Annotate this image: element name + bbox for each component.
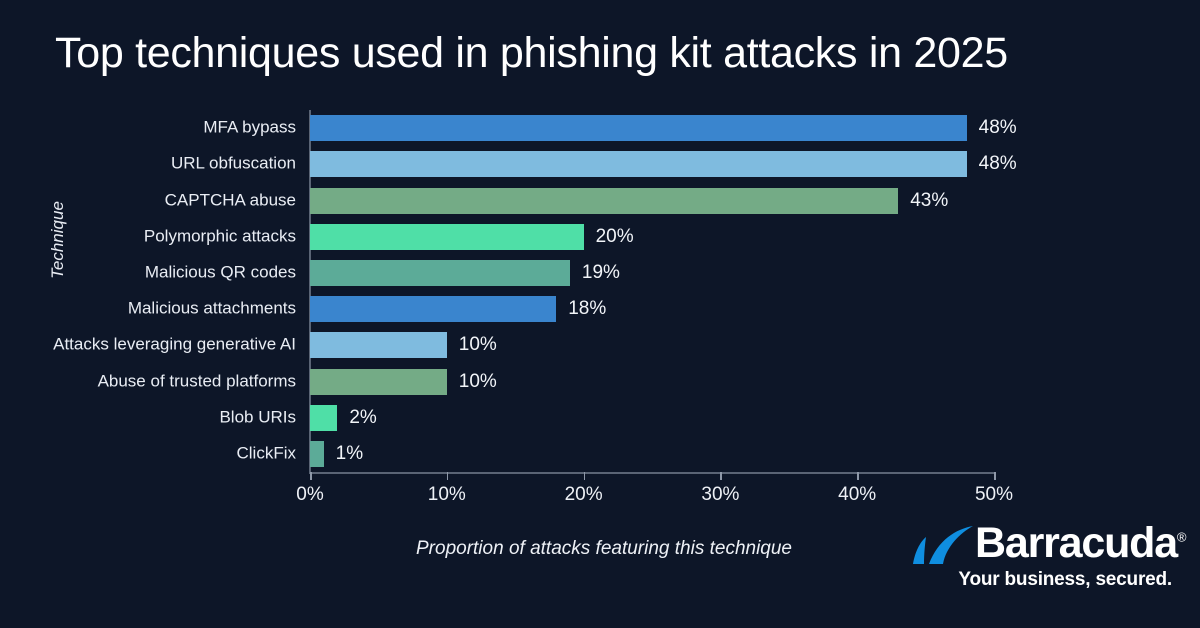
brand-name: Barracuda®: [975, 519, 1187, 568]
x-tick-label: 50%: [975, 484, 1013, 506]
x-tick-mark: [310, 472, 312, 480]
bar-row[interactable]: CAPTCHA abuse43%: [310, 188, 994, 214]
bar-row[interactable]: Malicious QR codes19%: [310, 260, 994, 286]
bar[interactable]: [310, 188, 898, 214]
bar[interactable]: [310, 224, 584, 250]
category-label: MFA bypass: [203, 118, 296, 138]
bar[interactable]: [310, 151, 967, 177]
page-title: Top techniques used in phishing kit atta…: [55, 29, 1008, 78]
bar-row[interactable]: Blob URIs2%: [310, 405, 994, 431]
y-axis-title: Technique: [48, 170, 68, 310]
category-label: Malicious QR codes: [145, 262, 296, 282]
category-label: ClickFix: [237, 443, 297, 463]
plot-area: 0%10%20%30%40%50% MFA bypass48%URL obfus…: [310, 110, 994, 472]
bar-value-label: 43%: [910, 189, 948, 211]
category-label: CAPTCHA abuse: [165, 190, 296, 210]
x-tick-mark: [994, 472, 996, 480]
bar-row[interactable]: Abuse of trusted platforms10%: [310, 369, 994, 395]
category-label: Malicious attachments: [128, 299, 296, 319]
bar-value-label: 48%: [979, 153, 1017, 175]
x-axis-title: Proportion of attacks featuring this tec…: [416, 538, 792, 560]
bar[interactable]: [310, 332, 447, 358]
bar-value-label: 10%: [459, 370, 497, 392]
bar-row[interactable]: URL obfuscation48%: [310, 151, 994, 177]
category-label: URL obfuscation: [171, 154, 296, 174]
x-tick-mark: [720, 472, 722, 480]
category-label: Polymorphic attacks: [144, 226, 296, 246]
x-tick-label: 10%: [428, 484, 466, 506]
bar-value-label: 2%: [349, 406, 376, 428]
bar[interactable]: [310, 260, 570, 286]
bar[interactable]: [310, 115, 967, 141]
bar[interactable]: [310, 441, 324, 467]
barracuda-logo: Barracuda® Your business, secured.: [912, 521, 1172, 597]
bar-row[interactable]: ClickFix1%: [310, 441, 994, 467]
category-label: Blob URIs: [219, 407, 296, 427]
category-label: Abuse of trusted platforms: [98, 371, 296, 391]
bar-row[interactable]: Attacks leveraging generative AI10%: [310, 332, 994, 358]
bar[interactable]: [310, 405, 337, 431]
bar[interactable]: [310, 369, 447, 395]
x-tick-label: 30%: [701, 484, 739, 506]
x-tick-label: 40%: [838, 484, 876, 506]
infographic-canvas: Top techniques used in phishing kit atta…: [0, 0, 1200, 628]
bar-value-label: 20%: [596, 225, 634, 247]
x-tick-mark: [584, 472, 586, 480]
brand-tagline: Your business, secured.: [958, 569, 1172, 591]
bar-value-label: 1%: [336, 443, 363, 465]
barracuda-fin-icon: [912, 525, 974, 565]
bar-value-label: 18%: [568, 298, 606, 320]
bar[interactable]: [310, 296, 556, 322]
bar-value-label: 10%: [459, 334, 497, 356]
x-axis-line: [309, 472, 995, 474]
x-tick-label: 0%: [296, 484, 323, 506]
x-tick-mark: [857, 472, 859, 480]
bar-value-label: 48%: [979, 117, 1017, 139]
bar-row[interactable]: MFA bypass48%: [310, 115, 994, 141]
x-tick-mark: [447, 472, 449, 480]
registered-mark: ®: [1177, 530, 1187, 545]
x-tick-label: 20%: [565, 484, 603, 506]
bar-row[interactable]: Polymorphic attacks20%: [310, 224, 994, 250]
bar-row[interactable]: Malicious attachments18%: [310, 296, 994, 322]
bar-value-label: 19%: [582, 262, 620, 284]
brand-name-text: Barracuda: [975, 519, 1177, 567]
category-label: Attacks leveraging generative AI: [53, 335, 296, 355]
